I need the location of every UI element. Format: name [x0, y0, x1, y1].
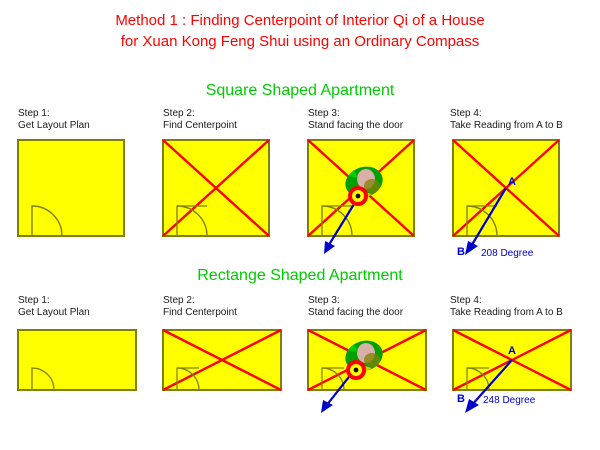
- step-number: Step 4:: [450, 295, 563, 307]
- reading-arrow-head-icon: [465, 399, 479, 413]
- step-caption: Take Reading from A to B: [450, 120, 563, 132]
- step-number: Step 1:: [18, 295, 90, 307]
- step-number: Step 3:: [308, 295, 403, 307]
- point-label-a-square: A: [508, 176, 516, 188]
- floor-plan-outline: [18, 330, 136, 390]
- diagram-square-step-3: [304, 136, 444, 261]
- diagram-rect-step-2: [159, 326, 289, 406]
- step-label-square-3: Step 3: Stand facing the door: [308, 108, 403, 132]
- step-caption: Stand facing the door: [308, 120, 403, 132]
- diagram-rect-step-3: [304, 326, 444, 431]
- point-label-b-square: B: [457, 246, 465, 258]
- step-caption: Stand facing the door: [308, 307, 403, 319]
- section-heading-square: Square Shaped Apartment: [0, 82, 600, 100]
- step-number: Step 4:: [450, 108, 563, 120]
- page-title: Method 1 : Finding Centerpoint of Interi…: [0, 10, 600, 52]
- step-number: Step 2:: [163, 295, 237, 307]
- step-label-rect-1: Step 1: Get Layout Plan: [18, 295, 90, 319]
- point-label-b-rect: B: [457, 393, 465, 405]
- reading-arrow-head-icon: [465, 241, 478, 255]
- step-label-square-4: Step 4: Take Reading from A to B: [450, 108, 563, 132]
- diagram-rect-step-1: [14, 326, 144, 406]
- step-label-square-2: Step 2: Find Centerpoint: [163, 108, 237, 132]
- step-number: Step 1:: [18, 108, 90, 120]
- degree-reading-square: 208 Degree: [481, 248, 533, 259]
- point-label-a-rect: A: [508, 345, 516, 357]
- step-label-rect-3: Step 3: Stand facing the door: [308, 295, 403, 319]
- compass-icon: [346, 360, 366, 380]
- step-label-rect-2: Step 2: Find Centerpoint: [163, 295, 237, 319]
- step-caption: Find Centerpoint: [163, 120, 237, 132]
- step-label-square-1: Step 1: Get Layout Plan: [18, 108, 90, 132]
- step-caption: Take Reading from A to B: [450, 307, 563, 319]
- diagram-rect-step-4: [449, 326, 594, 431]
- floor-plan-outline: [18, 140, 124, 236]
- section-heading-rectangle: Rectange Shaped Apartment: [0, 267, 600, 285]
- degree-reading-rect: 248 Degree: [483, 395, 535, 406]
- page-title-line-2: for Xuan Kong Feng Shui using an Ordinar…: [0, 31, 600, 52]
- direction-arrow-head-icon: [321, 400, 333, 413]
- step-number: Step 3:: [308, 108, 403, 120]
- diagram-square-step-1: [14, 136, 144, 246]
- step-number: Step 2:: [163, 108, 237, 120]
- step-label-rect-4: Step 4: Take Reading from A to B: [450, 295, 563, 319]
- diagram-square-step-4: [449, 136, 594, 261]
- compass-icon: [348, 186, 368, 206]
- step-caption: Get Layout Plan: [18, 120, 90, 132]
- page-title-line-1: Method 1 : Finding Centerpoint of Interi…: [0, 10, 600, 31]
- diagram-square-step-2: [159, 136, 289, 246]
- step-caption: Find Centerpoint: [163, 307, 237, 319]
- step-caption: Get Layout Plan: [18, 307, 90, 319]
